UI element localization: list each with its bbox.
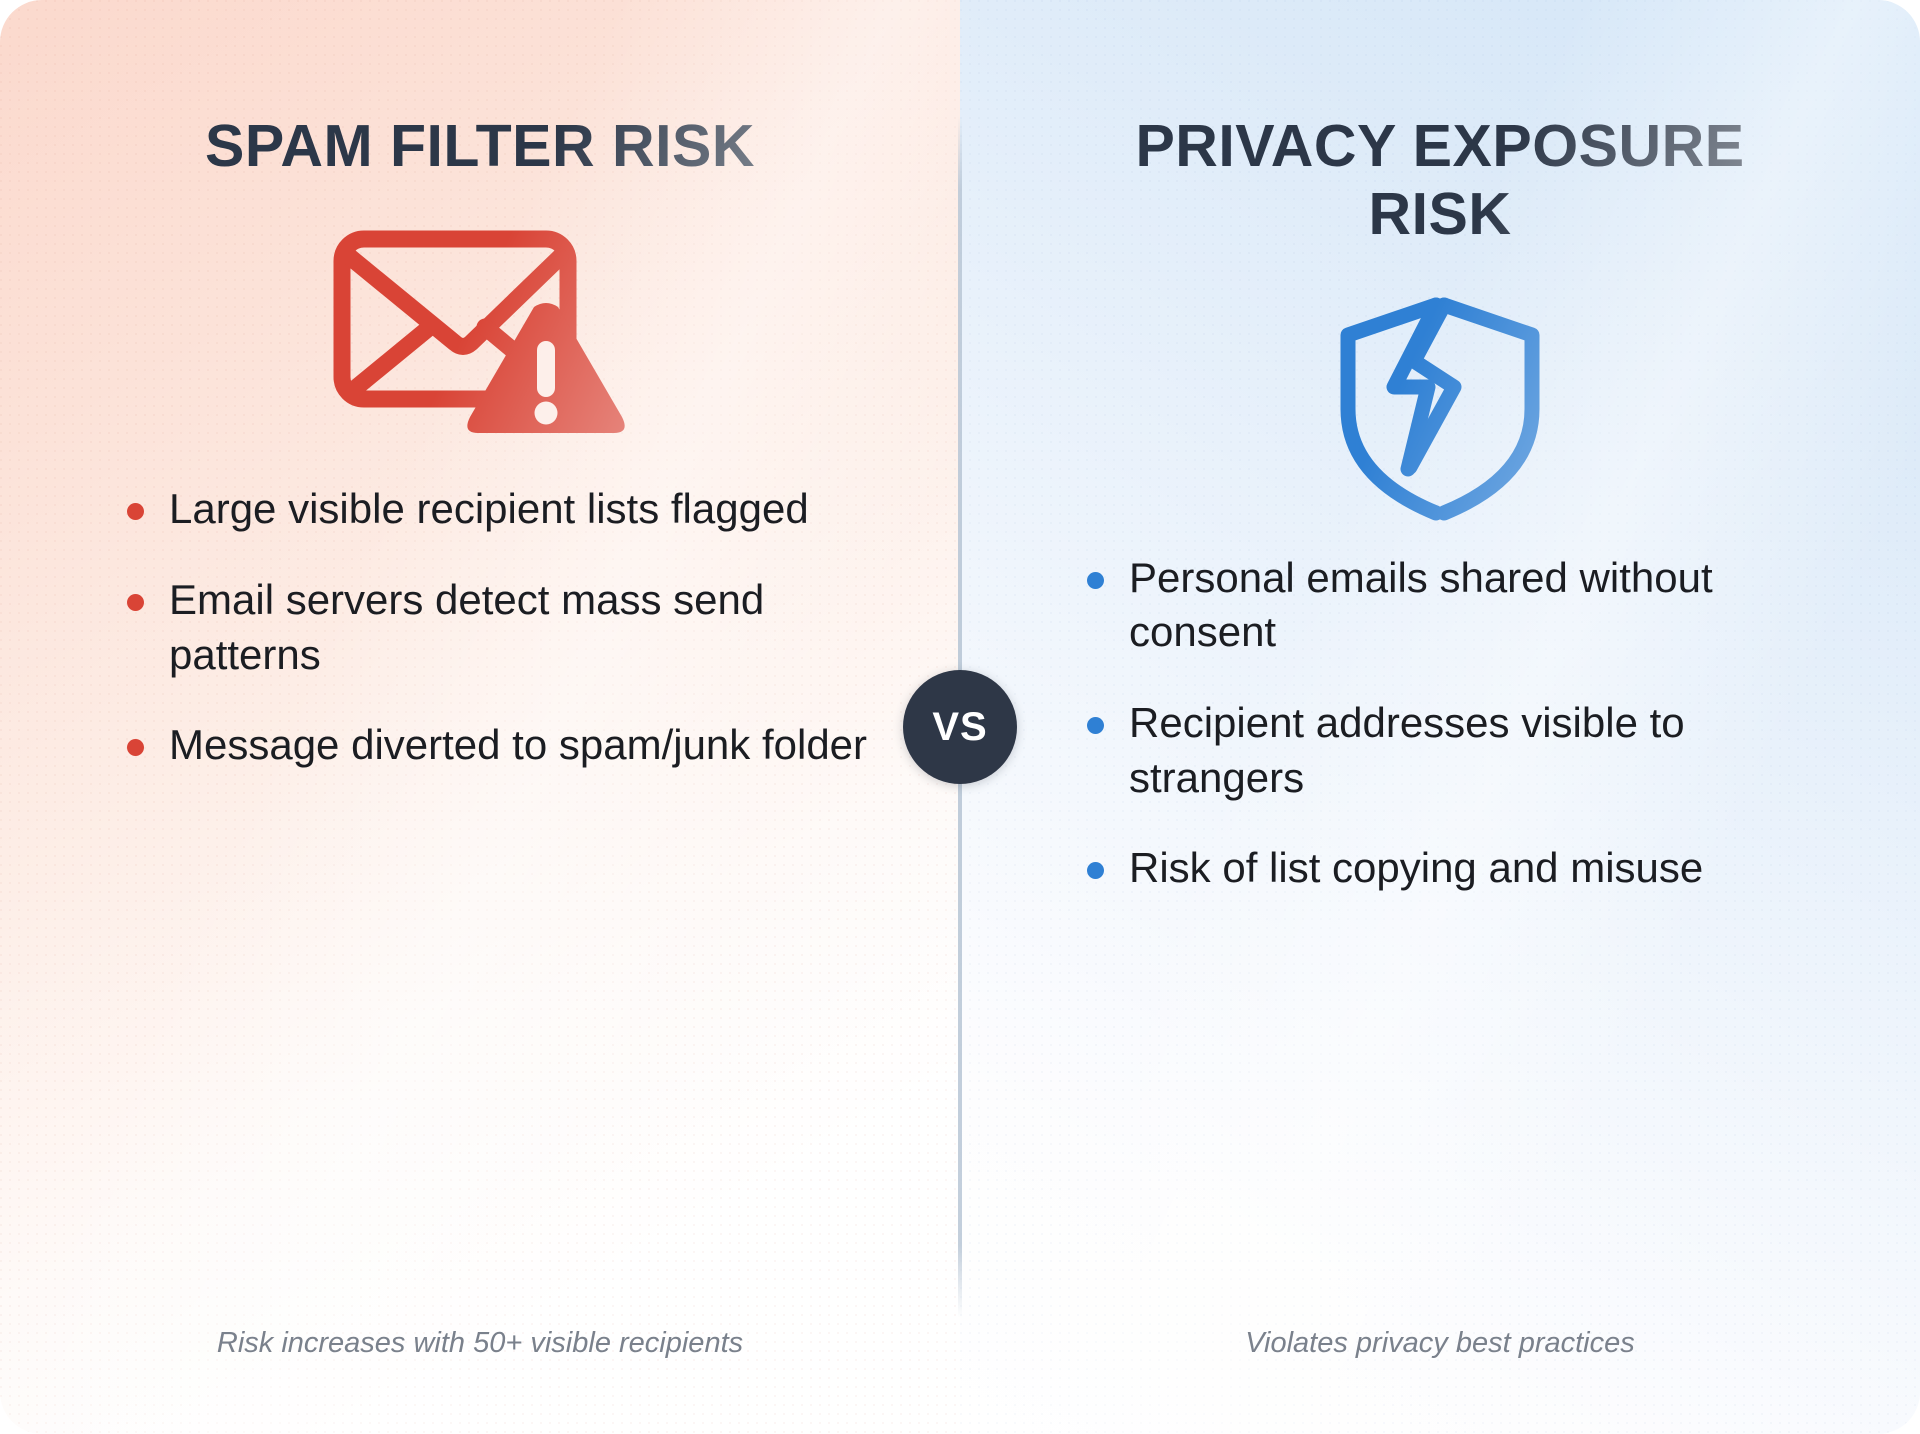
- footnote-left: Risk increases with 50+ visible recipien…: [0, 1327, 960, 1360]
- panel-spam-filter-risk: SPAM FILTER RISK Large visible recipi: [0, 0, 960, 1434]
- list-item: Recipient addresses visible to strangers: [1079, 696, 1835, 805]
- bullet-list-left: Large visible recipient lists flagged Em…: [85, 482, 875, 808]
- list-item: Risk of list copying and misuse: [1079, 841, 1835, 896]
- list-item: Email servers detect mass send patterns: [119, 573, 875, 682]
- vs-badge: VS: [903, 670, 1017, 784]
- list-item: Message diverted to spam/junk folder: [119, 718, 875, 773]
- list-item: Large visible recipient lists flagged: [119, 482, 875, 537]
- list-item: Personal emails shared without consent: [1079, 551, 1835, 660]
- page-title-left: SPAM FILTER RISK: [100, 112, 860, 180]
- envelope-warning-icon: [330, 216, 630, 460]
- bullet-list-right: Personal emails shared without consent R…: [1045, 551, 1835, 932]
- broken-shield-icon: [1336, 285, 1544, 529]
- footnote-right: Violates privacy best practices: [960, 1327, 1920, 1360]
- panel-privacy-exposure-risk: PRIVACY EXPOSURE RISK Personal emails sh…: [960, 0, 1920, 1434]
- comparison-infographic: SPAM FILTER RISK Large visible recipi: [0, 0, 1920, 1434]
- page-title-right: PRIVACY EXPOSURE RISK: [1060, 112, 1820, 249]
